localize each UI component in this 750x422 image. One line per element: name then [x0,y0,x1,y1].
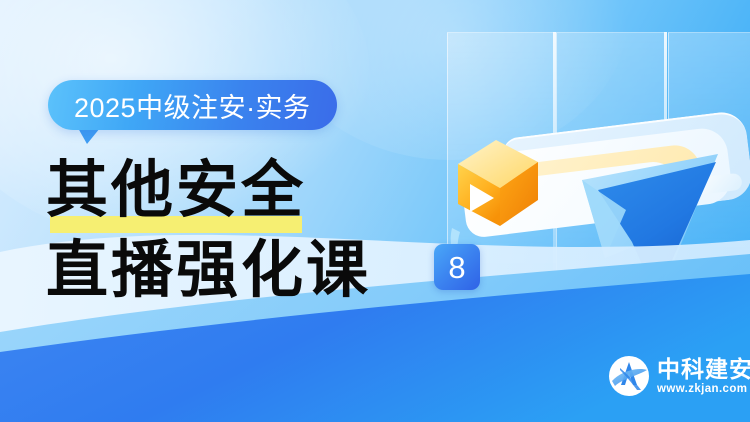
badge-tail [78,128,100,144]
zkjan-circle-logo-icon [608,355,650,397]
title-line-1-wrapper: 其他安全 [46,152,466,230]
course-category-badge: 2025中级注安·实务 [48,80,337,130]
brand-logo: 中科建安 www.zkjan.com [608,355,750,397]
episode-number: 8 [448,252,465,283]
brand-url: www.zkjan.com [657,382,750,396]
title-line-1: 其他安全 [46,152,466,228]
brand-text: 中科建安 www.zkjan.com [657,357,750,396]
course-category-label: 2025中级注安·实务 [74,86,311,125]
episode-number-badge: 8 [434,244,480,290]
title-line-2-wrapper: 直播强化课 8 [46,230,466,308]
title-block: 其他安全 直播强化课 8 [46,152,466,308]
brand-name: 中科建安 [657,357,750,382]
course-banner: 2025中级注安·实务 其他安全 直播强化课 8 [0,0,750,422]
title-line-2: 直播强化课 [46,232,371,308]
